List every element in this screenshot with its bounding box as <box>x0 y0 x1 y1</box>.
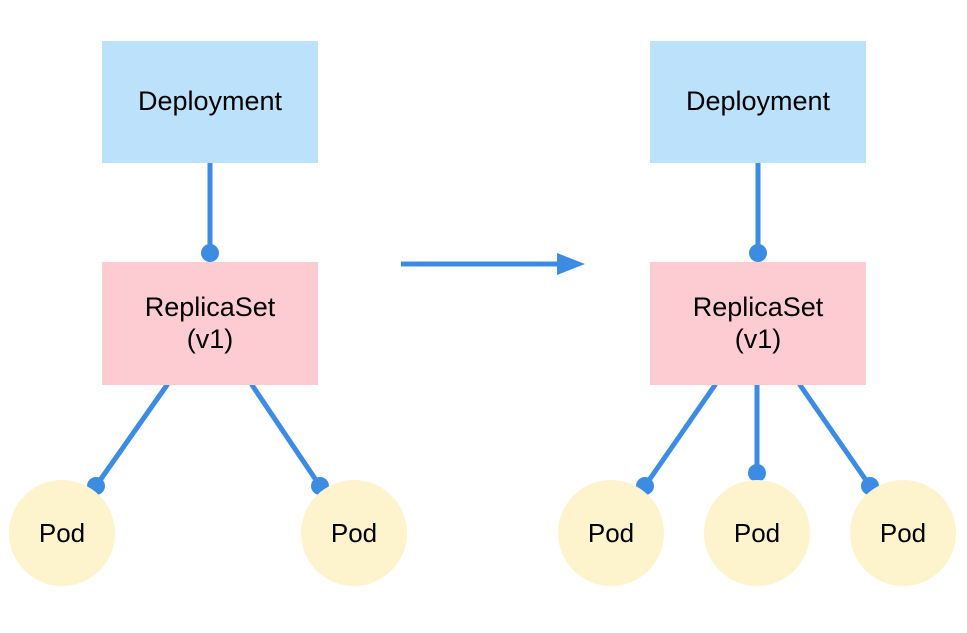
deployment-node[interactable]: Deployment <box>650 41 866 163</box>
pod-node-label: Pod <box>588 518 634 549</box>
replicaset-node-label: ReplicaSet (v1) <box>145 292 276 356</box>
edge-replicaset-to-pod <box>645 385 715 486</box>
pod-node[interactable]: Pod <box>704 480 810 586</box>
pod-node[interactable]: Pod <box>850 480 956 586</box>
deployment-node-label: Deployment <box>138 86 282 118</box>
edge-replicaset-to-pod <box>252 385 320 486</box>
deployment-node-label: Deployment <box>686 86 830 118</box>
pod-node-label: Pod <box>734 518 780 549</box>
deployment-node[interactable]: Deployment <box>102 41 318 163</box>
pod-node-label: Pod <box>39 518 85 549</box>
edge-endpoint-dot <box>749 244 767 262</box>
replicaset-node[interactable]: ReplicaSet (v1) <box>102 262 318 385</box>
edge-endpoint-dot <box>201 244 219 262</box>
transition-arrow-head-icon <box>557 253 585 275</box>
pod-node[interactable]: Pod <box>9 480 115 586</box>
pod-node-label: Pod <box>880 518 926 549</box>
edge-replicaset-to-pod <box>96 385 167 486</box>
edge-replicaset-to-pod <box>800 385 870 486</box>
replicaset-node[interactable]: ReplicaSet (v1) <box>650 262 866 385</box>
replicaset-node-label: ReplicaSet (v1) <box>693 292 824 356</box>
pod-node-label: Pod <box>331 518 377 549</box>
diagram-canvas: DeploymentReplicaSet (v1)PodPodDeploymen… <box>0 0 967 633</box>
pod-node[interactable]: Pod <box>301 480 407 586</box>
pod-node[interactable]: Pod <box>558 480 664 586</box>
